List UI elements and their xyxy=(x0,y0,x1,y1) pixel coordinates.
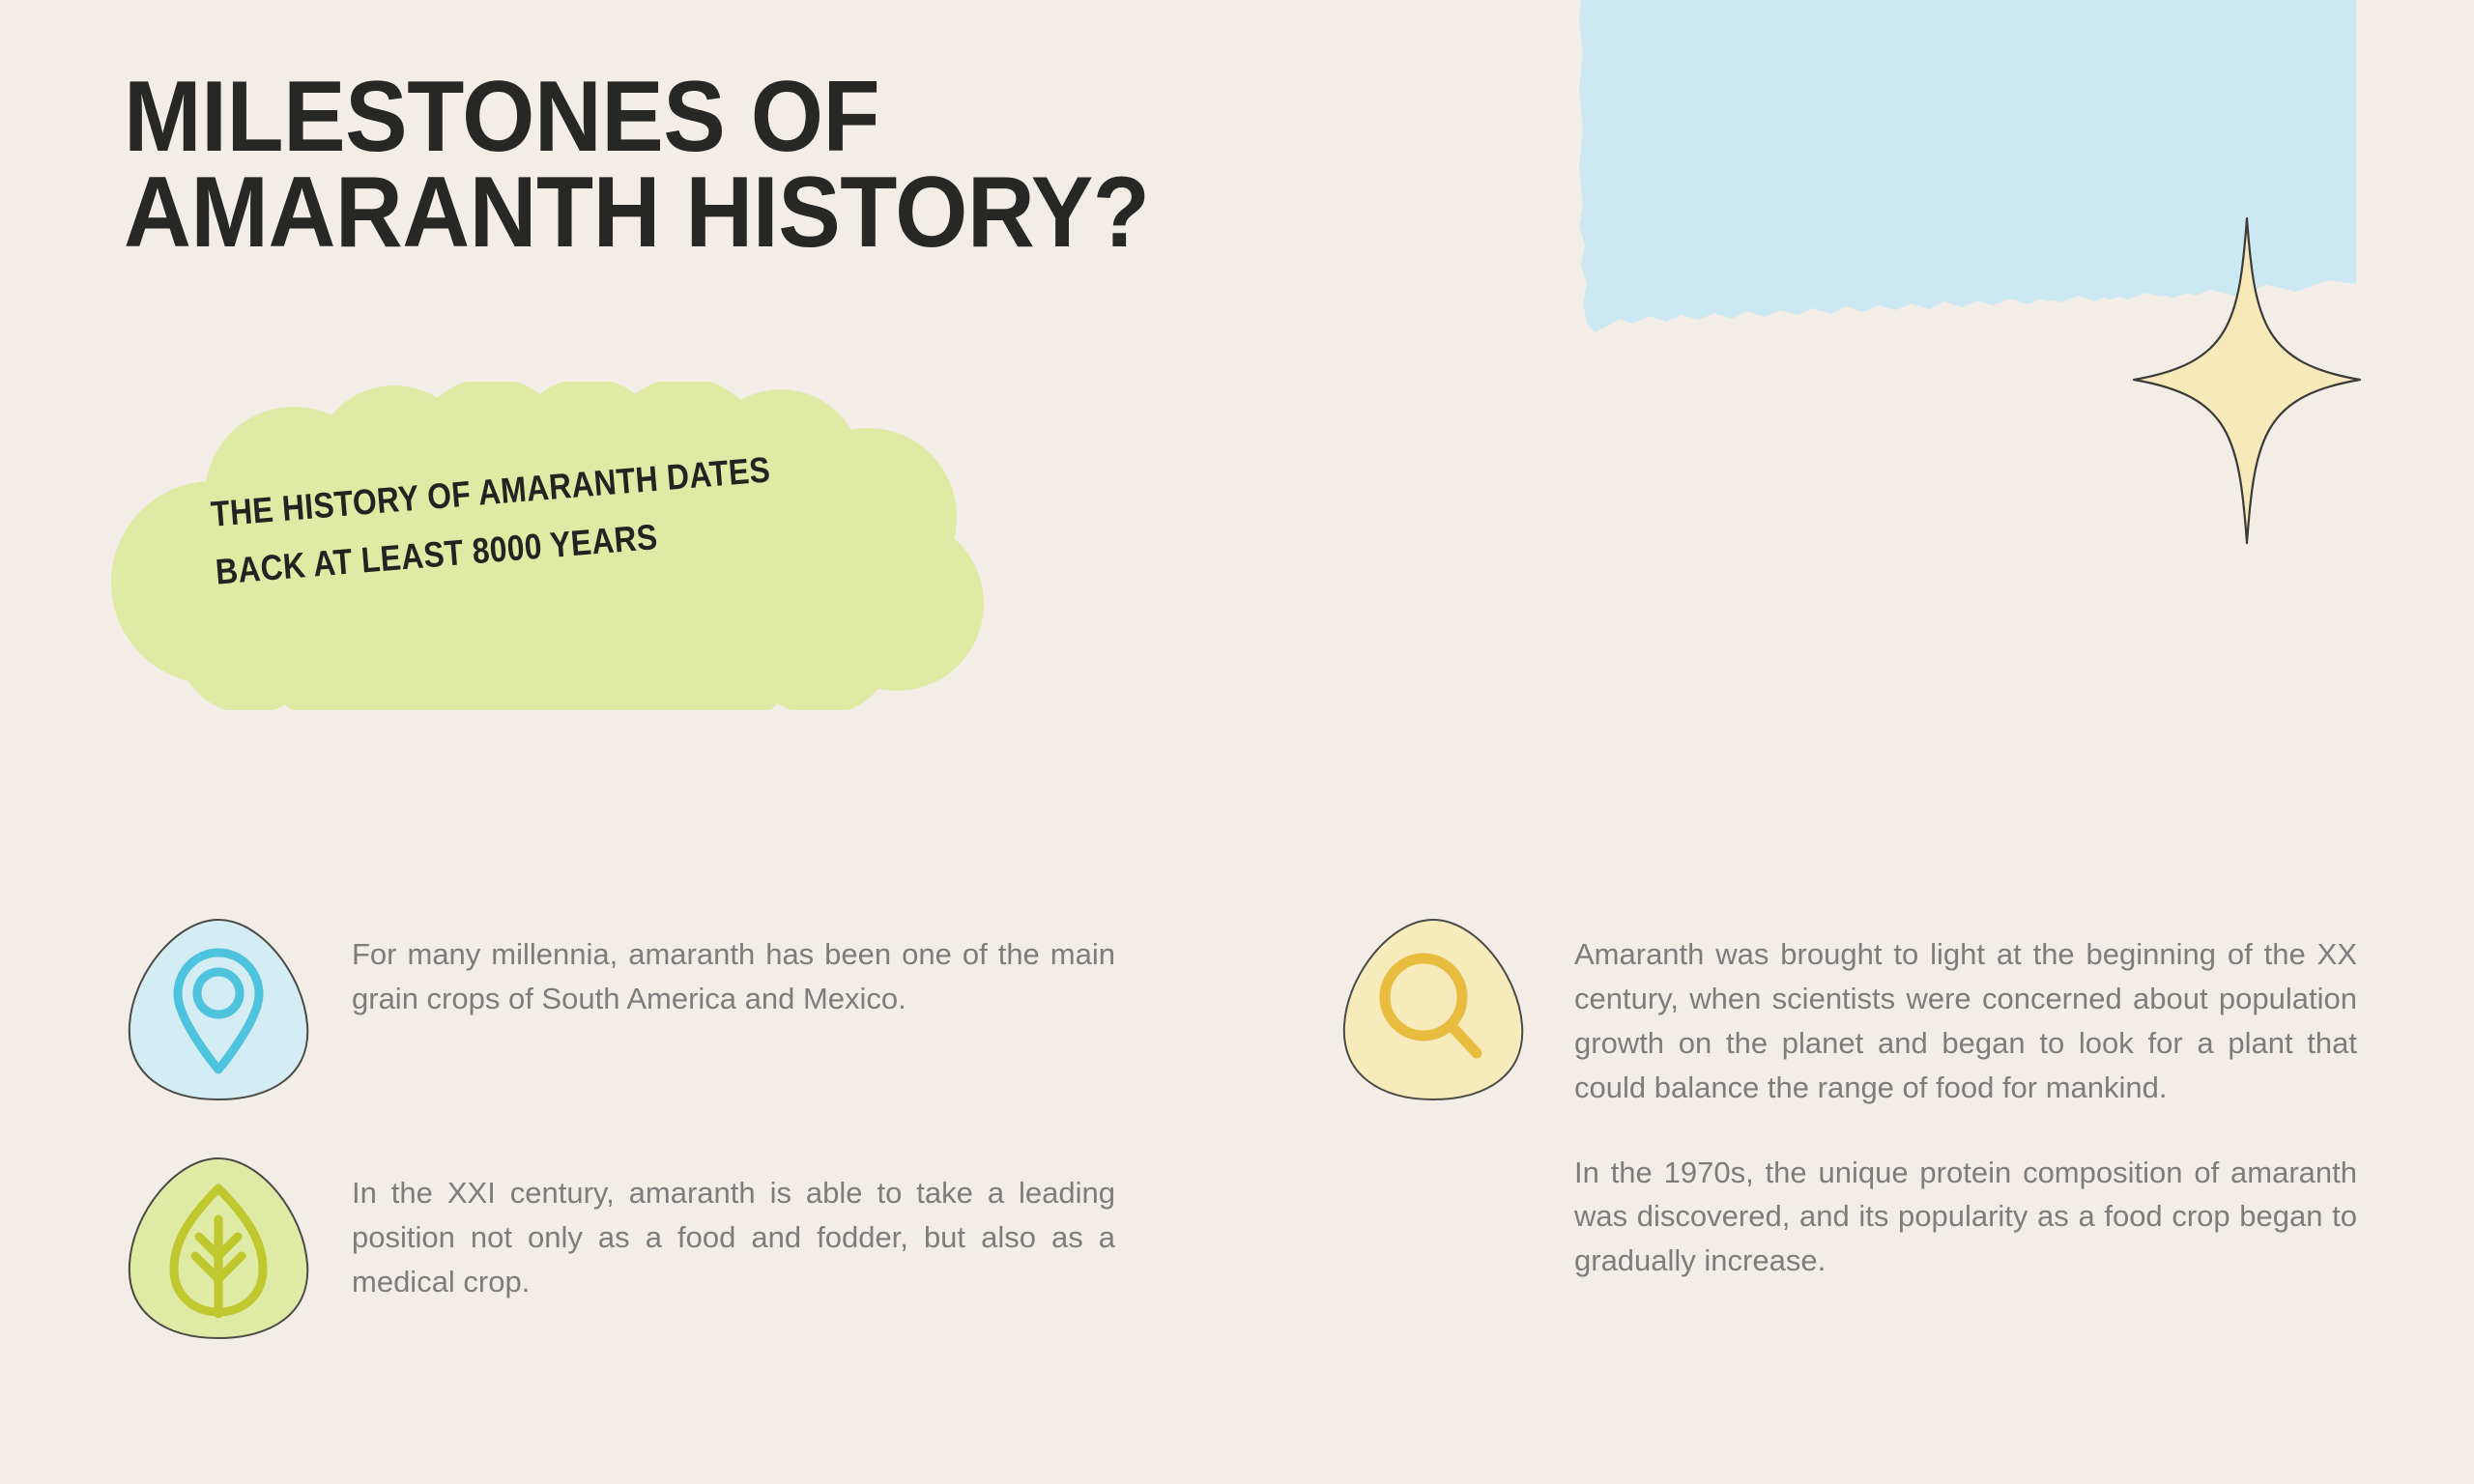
info-paragraph: Amaranth was brought to light at the beg… xyxy=(1574,932,2357,1110)
sparkle-decoration xyxy=(2131,216,2363,545)
torn-paper-decoration xyxy=(1577,0,2360,373)
map-pin-icon-container xyxy=(124,915,313,1104)
callout-cloud: THE HISTORY OF AMARANTH DATES BACK AT LE… xyxy=(104,382,984,710)
torn-paper-shape xyxy=(1579,0,2356,332)
info-block-research: Amaranth was brought to light at the beg… xyxy=(1338,932,2373,1283)
blob-shape-yellow xyxy=(1344,920,1522,1099)
info-paragraph: For many millennia, amaranth has been on… xyxy=(352,932,1115,1021)
info-block-crop: In the XXI century, amaranth is able to … xyxy=(124,1171,1129,1343)
leaf-icon-container xyxy=(124,1154,313,1343)
page-title: MILESTONES OF AMARANTH HISTORY? xyxy=(124,70,1573,261)
info-text-location: For many millennia, amaranth has been on… xyxy=(352,932,1115,1021)
page-title-line-2: AMARANTH HISTORY? xyxy=(124,165,1472,261)
page-title-line-1: MILESTONES OF xyxy=(124,70,1472,165)
magnifier-icon-container xyxy=(1338,915,1528,1104)
torn-paper-edge-detail xyxy=(1741,255,2356,305)
info-paragraph: In the XXI century, amaranth is able to … xyxy=(352,1171,1115,1304)
info-block-location: For many millennia, amaranth has been on… xyxy=(124,932,1129,1104)
info-text-crop: In the XXI century, amaranth is able to … xyxy=(352,1171,1115,1304)
info-text-research: Amaranth was brought to light at the beg… xyxy=(1574,932,2357,1283)
four-point-star-icon xyxy=(2134,218,2360,543)
info-paragraph: In the 1970s, the unique protein composi… xyxy=(1574,1151,2357,1284)
